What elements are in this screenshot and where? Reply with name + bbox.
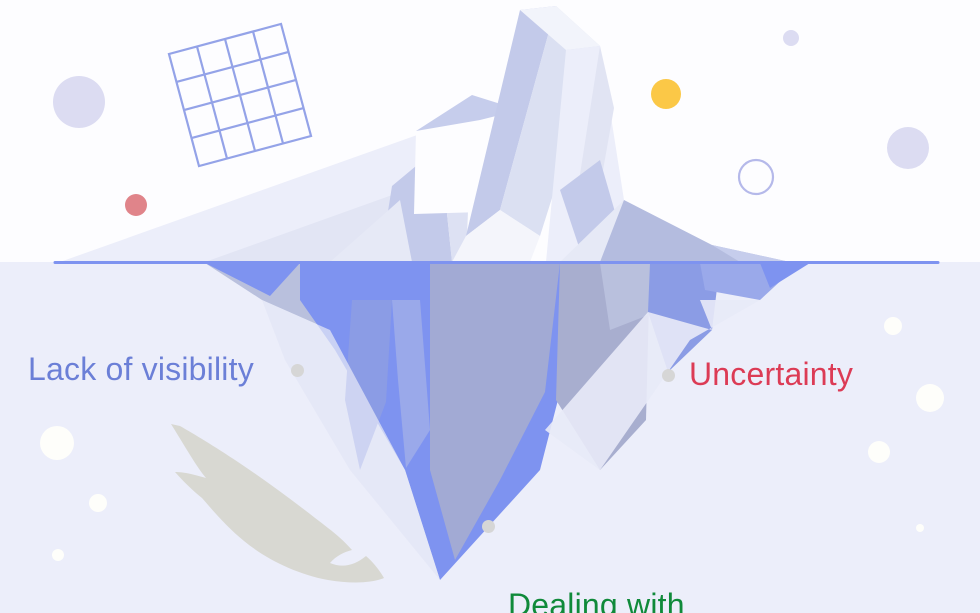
- iceberg-illustration: Lack of visibility Uncertainty Dealing w…: [0, 0, 980, 613]
- label-dealing-line-1: Dealing with: [508, 586, 784, 613]
- lilac-dot-small-top-right-icon: [783, 30, 799, 46]
- lilac-circle-large-left-icon: [53, 76, 105, 128]
- label-dealing-with-concurrent-projects: Dealing with concurrent projects: [508, 508, 784, 613]
- bullet-dot-lack-of-visibility: [291, 364, 304, 377]
- bubble-right-1-icon: [884, 317, 902, 335]
- bubble-left-2-icon: [89, 494, 107, 512]
- bullet-dot-dealing-with-concurrent-projects: [482, 520, 495, 533]
- label-lack-of-visibility: Lack of visibility: [28, 350, 254, 389]
- label-uncertainty: Uncertainty: [689, 355, 853, 394]
- bubble-left-1-icon: [40, 426, 74, 460]
- bubble-right-3-icon: [868, 441, 890, 463]
- yellow-dot-icon: [651, 79, 681, 109]
- ice-notch-opening: [414, 120, 482, 214]
- lilac-circle-right-icon: [887, 127, 929, 169]
- red-dot-left-icon: [125, 194, 147, 216]
- bubble-right-2-icon: [916, 384, 944, 412]
- bullet-dot-uncertainty: [662, 369, 675, 382]
- bubble-left-3-icon: [52, 549, 64, 561]
- bubble-right-4-icon: [916, 524, 924, 532]
